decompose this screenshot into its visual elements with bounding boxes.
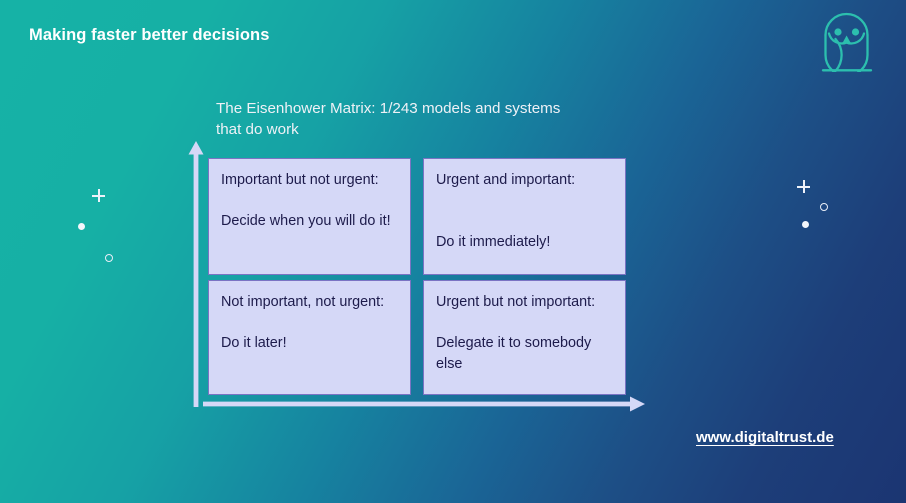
quadrant-important-not-urgent[interactable]: Important but not urgent: Decide when yo… (208, 158, 411, 275)
quadrant-action: Do it later! (221, 313, 398, 354)
slide-canvas: Making faster better decisions The Eis (0, 0, 906, 503)
owl-logo (816, 8, 878, 72)
filled-dot-icon (78, 223, 85, 230)
hollow-circle-icon (105, 254, 113, 262)
matrix-heading: The Eisenhower Matrix: 1/243 models and … (216, 98, 571, 140)
quadrant-urgent-and-important[interactable]: Urgent and important: Do it immediately! (423, 158, 626, 275)
quadrant-action: Delegate it to somebody else (436, 313, 613, 375)
plus-icon (92, 189, 105, 202)
eisenhower-matrix: Important but not urgent: Decide when yo… (208, 158, 626, 390)
quadrant-action: Do it immediately! (436, 191, 613, 253)
quadrant-heading: Urgent and important: (436, 170, 613, 191)
slide-title: Making faster better decisions (29, 26, 270, 45)
quadrant-not-important-not-urgent[interactable]: Not important, not urgent: Do it later! (208, 280, 411, 395)
hollow-circle-icon (820, 203, 828, 211)
quadrant-heading: Urgent but not important: (436, 292, 613, 313)
vertical-axis-arrow-up-icon (186, 141, 206, 407)
owl-eye-left (834, 28, 841, 35)
website-link[interactable]: www.digitaltrust.de (696, 429, 834, 446)
quadrant-heading: Important but not urgent: (221, 170, 398, 191)
quadrant-heading: Not important, not urgent: (221, 292, 398, 313)
owl-eye-right (852, 28, 859, 35)
quadrant-urgent-not-important[interactable]: Urgent but not important: Delegate it to… (423, 280, 626, 395)
horizontal-axis-arrow-right-icon (203, 393, 645, 415)
plus-icon (797, 180, 810, 193)
quadrant-action: Decide when you will do it! (221, 191, 398, 232)
filled-dot-icon (802, 221, 809, 228)
